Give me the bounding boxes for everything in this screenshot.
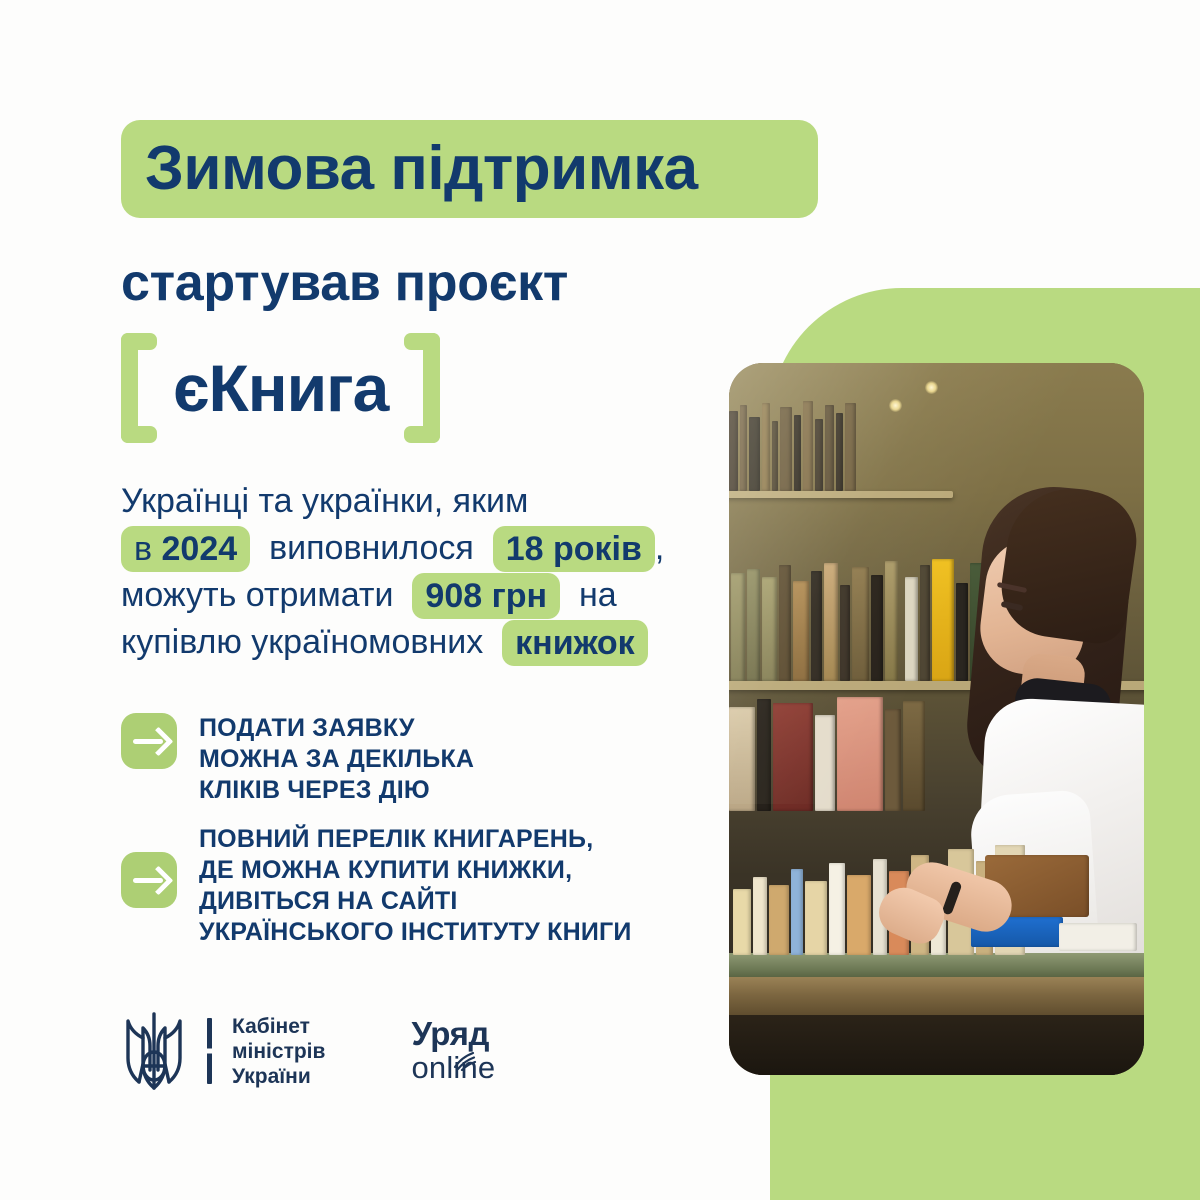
book-table-edge <box>729 977 1144 1017</box>
footer: Кабінет міністрів України Уряд online <box>121 1008 495 1094</box>
book-table <box>729 953 1144 979</box>
bullet-item-2: ПОВНИЙ ПЕРЕЛІК КНИГАРЕНЬ, ДЕ МОЖНА КУПИТ… <box>121 824 632 948</box>
body-copy: Українці та українки, яким в 2024 виповн… <box>121 478 721 666</box>
arrow-right-icon <box>121 713 177 769</box>
body-text: можуть отримати <box>121 572 394 619</box>
body-line-1: Українці та українки, яким <box>121 478 721 525</box>
page-title: Зимова підтримка <box>145 128 845 210</box>
body-line-3: можуть отримати 908 грн на <box>121 572 721 619</box>
arrow-right-icon <box>121 852 177 908</box>
white-book <box>1059 923 1137 951</box>
brand-label: єКнига <box>159 333 402 443</box>
poster-canvas: Зимова підтримка стартував проєкт єКнига… <box>0 0 1200 1200</box>
bullet-item-1: ПОДАТИ ЗАЯВКУ МОЖНА ЗА ДЕКІЛЬКА КЛІКІВ Ч… <box>121 713 474 806</box>
wifi-signal-icon <box>451 1047 481 1071</box>
bullet-2-text: ПОВНИЙ ПЕРЕЛІК КНИГАРЕНЬ, ДЕ МОЖНА КУПИТ… <box>199 824 632 948</box>
body-text: купівлю україномовних <box>121 619 483 666</box>
window-glass-reflection <box>729 363 1144 804</box>
bookstore-photo-card <box>729 363 1144 1075</box>
uryad-online-logo: Уряд online <box>411 1017 495 1085</box>
body-text: виповнилося <box>269 525 474 572</box>
book-table-shadow <box>729 1015 1144 1075</box>
cabinet-label: Кабінет міністрів України <box>232 1014 325 1089</box>
pill-year: в 2024 <box>121 526 250 572</box>
pill-amount: 908 грн <box>412 573 560 619</box>
body-text: , <box>655 525 664 572</box>
logo-divider <box>207 1018 212 1084</box>
pill-age: 18 років <box>493 526 655 572</box>
ukraine-trident-icon <box>121 1008 187 1094</box>
bracket-right-icon <box>402 333 440 443</box>
pill-books: книжок <box>502 620 648 666</box>
bracket-left-icon <box>121 333 159 443</box>
cabinet-of-ministers-logo: Кабінет міністрів України <box>121 1008 325 1094</box>
body-line-2: в 2024 виповнилося 18 років , <box>121 525 721 572</box>
photo-illustration <box>729 363 1144 1075</box>
body-line-4: купівлю україномовних книжок <box>121 619 721 666</box>
brand-ekniga: єКнига <box>121 330 440 446</box>
subtitle: стартував проєкт <box>121 252 568 314</box>
body-text: на <box>579 572 617 619</box>
uryad-label: Уряд <box>411 1017 495 1051</box>
bullet-1-text: ПОДАТИ ЗАЯВКУ МОЖНА ЗА ДЕКІЛЬКА КЛІКІВ Ч… <box>199 713 474 806</box>
body-text: Українці та українки, яким <box>121 478 528 525</box>
